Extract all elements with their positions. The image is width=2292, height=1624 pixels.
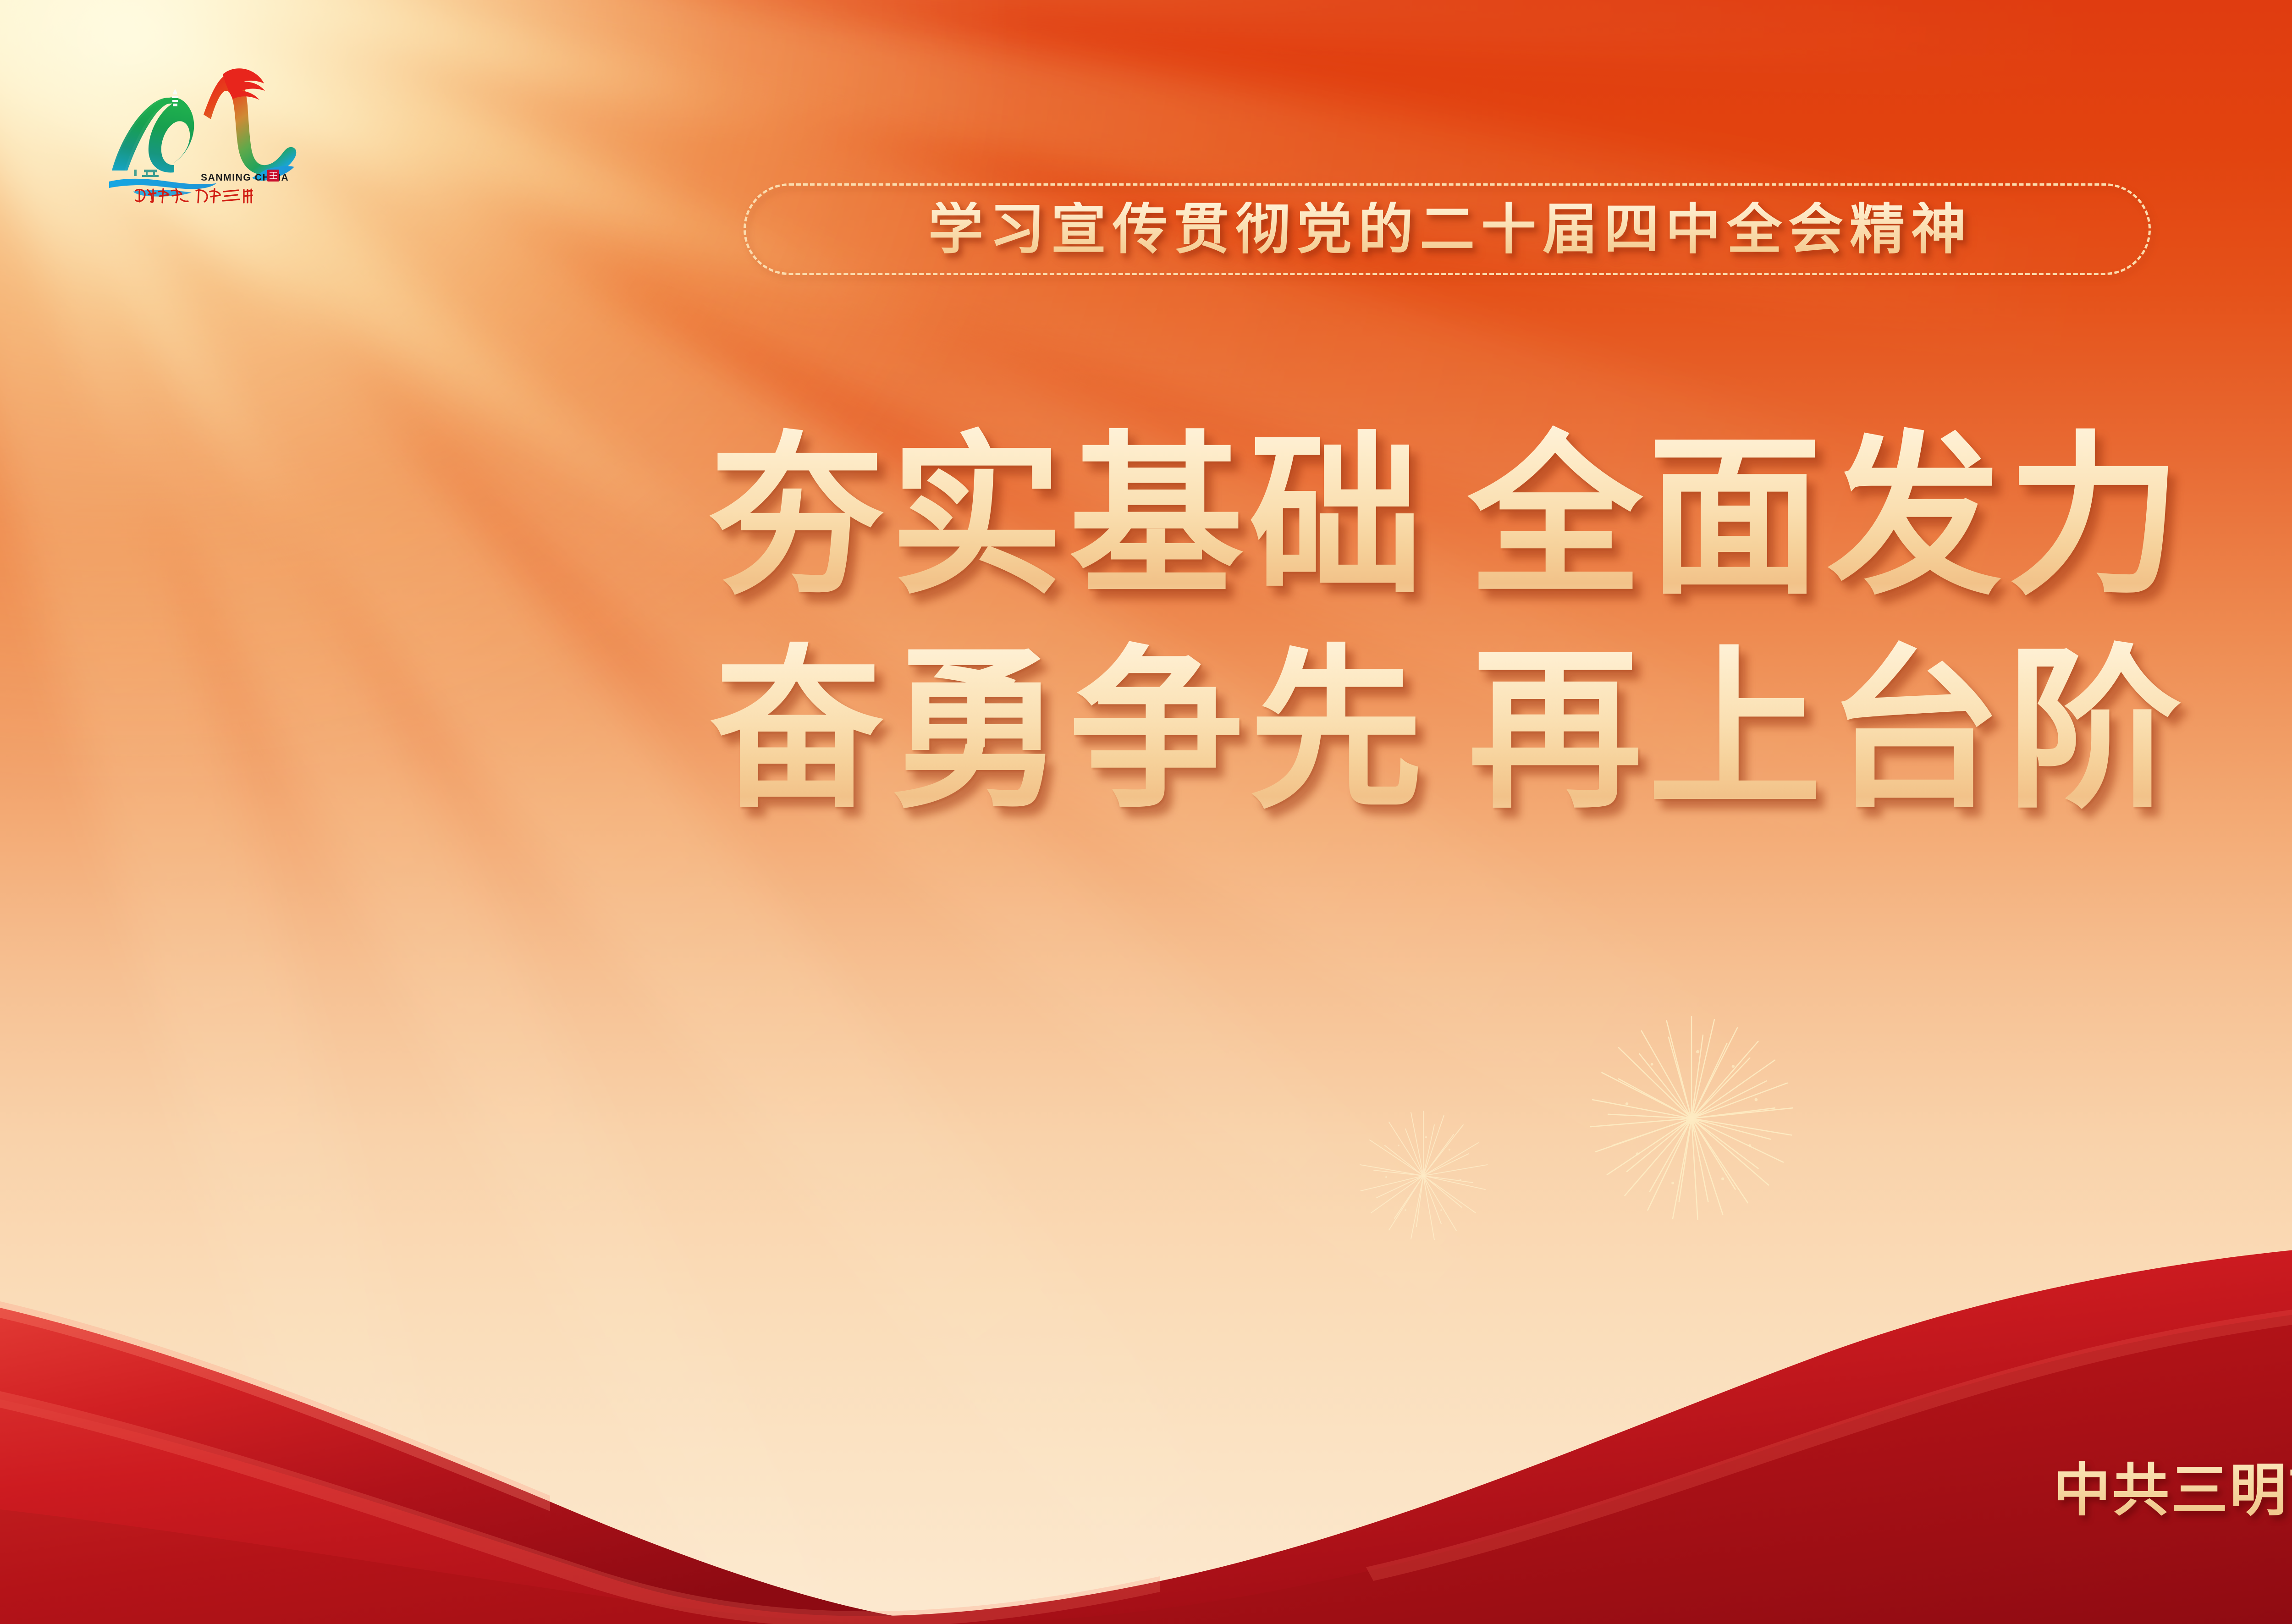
firework-icon — [1348, 1100, 1499, 1251]
poster-canvas: SANMING CHINA — [0, 0, 2292, 1624]
headline-line-1b: 全面发力 — [1468, 419, 2187, 614]
headline-block: 夯实基础全面发力 奋勇争先再上台阶 — [0, 419, 2292, 828]
headline-line-1a: 夯实基础 — [710, 419, 1429, 614]
headline-line-2b: 再上台阶 — [1468, 633, 2187, 828]
banner-text: 学习宣传贯彻党的二十届四中全会精神 — [922, 202, 1972, 257]
firework-icon — [1577, 1004, 1806, 1233]
attribution-text: 中共三明市委宣传部(宣) — [2054, 1444, 2292, 1526]
sanming-city-logo — [105, 55, 334, 206]
headline-line-1: 夯实基础全面发力 — [0, 419, 2292, 615]
headline-line-2a: 奋勇争先 — [710, 633, 1429, 828]
red-silk-waves-decoration — [0, 1051, 2292, 1624]
headline-line-2: 奋勇争先再上台阶 — [0, 633, 2292, 828]
light-ray — [0, 0, 2292, 102]
campaign-banner: 学习宣传贯彻党的二十届四中全会精神 — [744, 183, 2151, 275]
